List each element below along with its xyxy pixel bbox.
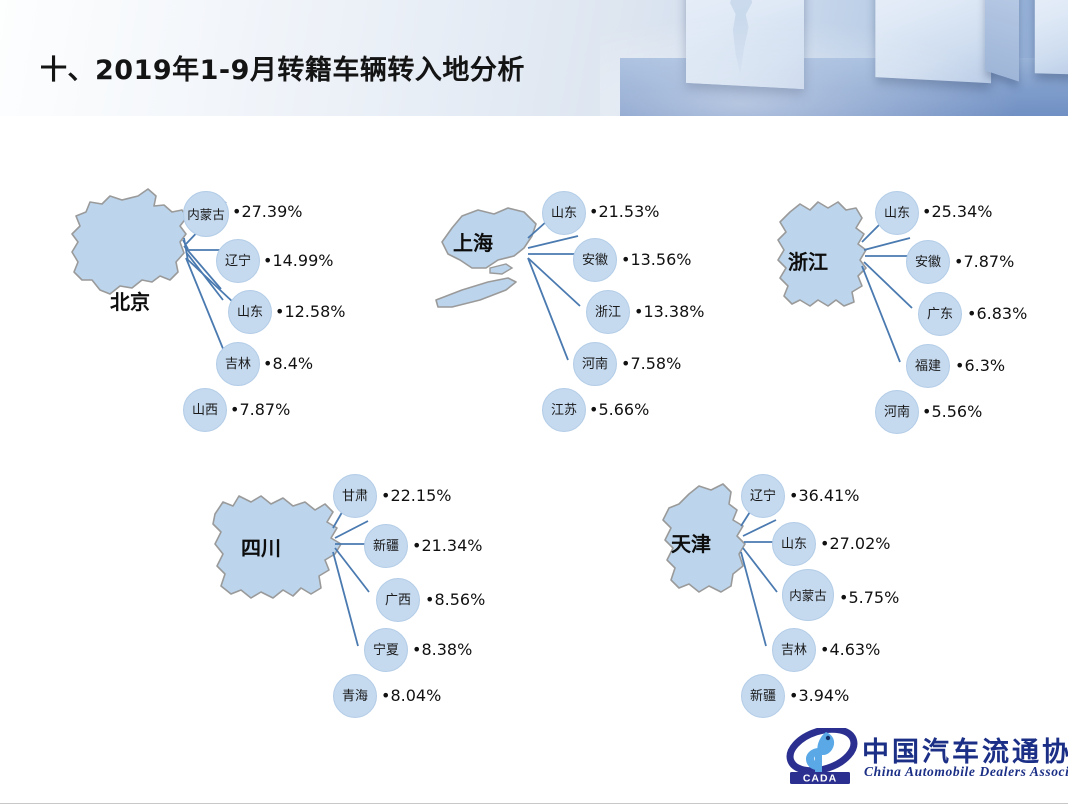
target-value-1: •27.39%: [232, 202, 302, 221]
target-value-3: •6.83%: [967, 304, 1027, 323]
target-node-4[interactable]: 河南: [573, 342, 617, 386]
target-node-1[interactable]: 山东: [875, 191, 919, 235]
connector-line: [743, 520, 776, 536]
cluster-beijing: 北京 内蒙古 •27.39% 辽宁 •14.99% 山东 •12.58% 吉林 …: [60, 176, 390, 436]
blue-cube-world-map-photo-1: [686, 0, 804, 89]
target-node-3[interactable]: 内蒙古: [782, 569, 834, 621]
connector-line: [335, 521, 368, 538]
target-node-4[interactable]: 吉林: [772, 628, 816, 672]
target-value-3: •13.38%: [634, 302, 704, 321]
source-label-zhejiang: 浙江: [788, 246, 828, 275]
beijing-map-icon: [72, 189, 187, 294]
target-value-2: •14.99%: [263, 251, 333, 270]
target-value-2: •21.34%: [412, 536, 482, 555]
logo-name-en: China Automobile Dealers Association: [864, 764, 1068, 780]
source-label-beijing: 北京: [110, 286, 150, 315]
target-node-2[interactable]: 新疆: [364, 524, 408, 568]
target-node-4[interactable]: 宁夏: [364, 628, 408, 672]
target-value-2: •7.87%: [954, 252, 1014, 271]
page-header: 十、2019年1-9月转籍车辆转入地分析: [0, 0, 1068, 116]
connector-line: [528, 258, 580, 306]
target-node-1[interactable]: 山东: [542, 191, 586, 235]
target-node-5[interactable]: 新疆: [741, 674, 785, 718]
target-node-4[interactable]: 吉林: [216, 342, 260, 386]
source-label-sichuan: 四川: [241, 532, 281, 561]
target-node-3[interactable]: 广东: [918, 292, 962, 336]
target-node-3[interactable]: 广西: [376, 578, 420, 622]
target-value-4: •8.4%: [263, 354, 313, 373]
target-node-5[interactable]: 江苏: [542, 388, 586, 432]
svg-text:CADA: CADA: [803, 773, 837, 785]
connector-line: [528, 236, 578, 248]
target-node-1[interactable]: 辽宁: [741, 474, 785, 518]
cluster-shanghai: 上海 山东 •21.53% 安徽 •13.56% 浙江 •13.38% 河南 •…: [428, 176, 758, 436]
cluster-zhejiang: 浙江 山东 •25.34% 安徽 •7.87% 广东 •6.83% 福建 •6.…: [770, 176, 1068, 436]
cluster-sichuan: 四川 甘肃 •22.15% 新疆 •21.34% 广西 •8.56% 宁夏 •8…: [205, 456, 535, 716]
connector-line: [743, 548, 777, 592]
page-title: 十、2019年1-9月转籍车辆转入地分析: [40, 48, 525, 87]
target-node-2[interactable]: 安徽: [573, 238, 617, 282]
target-value-3: •5.75%: [839, 588, 899, 607]
target-node-3[interactable]: 浙江: [586, 290, 630, 334]
target-node-5[interactable]: 河南: [875, 390, 919, 434]
target-node-5[interactable]: 山西: [183, 388, 227, 432]
target-value-3: •8.56%: [425, 590, 485, 609]
target-value-2: •13.56%: [621, 250, 691, 269]
target-value-4: •4.63%: [820, 640, 880, 659]
target-node-2[interactable]: 安徽: [906, 240, 950, 284]
target-node-1[interactable]: 甘肃: [333, 474, 377, 518]
cada-fish-logo-icon: CADA: [786, 728, 858, 784]
target-node-1[interactable]: 内蒙古: [183, 191, 229, 237]
cada-logo: CADA 中国汽车流通协会 China Automobile Dealers A…: [786, 726, 1058, 788]
target-value-5: •5.66%: [589, 400, 649, 419]
target-value-1: •25.34%: [922, 202, 992, 221]
target-value-4: •6.3%: [955, 356, 1005, 375]
target-value-1: •21.53%: [589, 202, 659, 221]
source-label-shanghai: 上海: [453, 227, 493, 256]
target-node-5[interactable]: 青海: [333, 674, 377, 718]
diagram-canvas: 北京 内蒙古 •27.39% 辽宁 •14.99% 山东 •12.58% 吉林 …: [0, 116, 1068, 804]
cluster-tianjin: 天津 辽宁 •36.41% 山东 •27.02% 内蒙古 •5.75% 吉林 •…: [645, 456, 975, 716]
target-value-1: •22.15%: [381, 486, 451, 505]
blue-cube-side-face: [985, 0, 1019, 82]
world-map-texture: [886, 0, 926, 13]
connector-line: [862, 266, 900, 362]
blue-cube-world-map-photo-2: [875, 0, 991, 83]
connector-line: [335, 548, 369, 592]
shanghai-map-icon: [436, 208, 536, 307]
target-value-2: •27.02%: [820, 534, 890, 553]
blue-cube-world-map-photo-3: [1035, 0, 1068, 75]
connector-line: [741, 552, 766, 646]
connector-line: [333, 552, 358, 646]
target-value-3: •12.58%: [275, 302, 345, 321]
target-value-5: •8.04%: [381, 686, 441, 705]
target-value-1: •36.41%: [789, 486, 859, 505]
target-value-5: •5.56%: [922, 402, 982, 421]
target-value-5: •3.94%: [789, 686, 849, 705]
connector-line: [864, 238, 910, 250]
target-value-5: •7.87%: [230, 400, 290, 419]
source-label-tianjin: 天津: [671, 528, 711, 557]
target-node-2[interactable]: 山东: [772, 522, 816, 566]
target-value-4: •8.38%: [412, 640, 472, 659]
target-node-2[interactable]: 辽宁: [216, 239, 260, 283]
target-value-4: •7.58%: [621, 354, 681, 373]
connector-line: [864, 262, 912, 308]
world-map-texture: [720, 0, 766, 75]
target-node-3[interactable]: 山东: [228, 290, 272, 334]
connector-line: [528, 258, 568, 360]
target-node-4[interactable]: 福建: [906, 344, 950, 388]
